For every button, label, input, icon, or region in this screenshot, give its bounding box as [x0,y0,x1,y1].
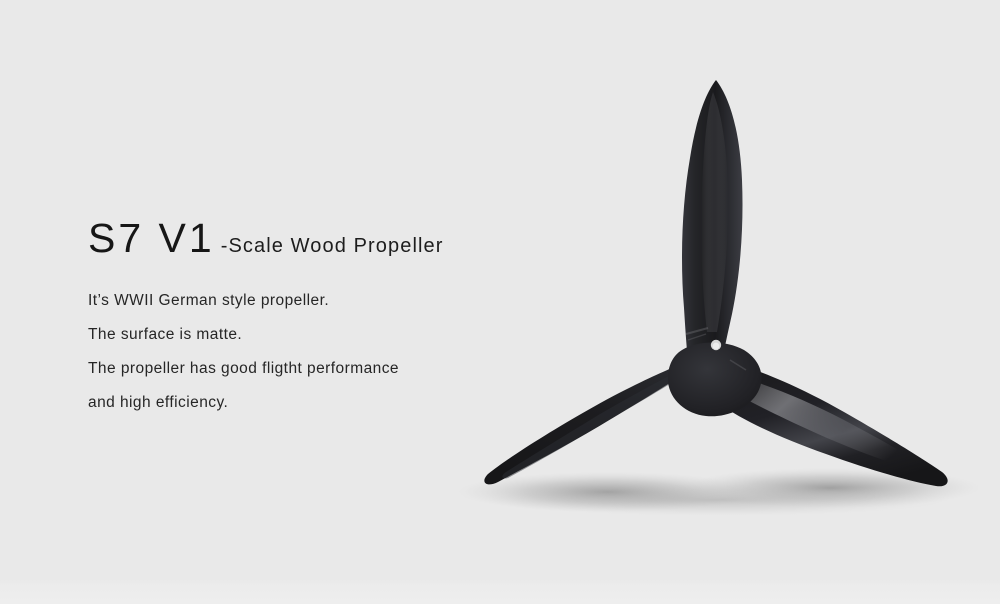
product-tagline: -Scale Wood Propeller [221,235,444,257]
product-copy: S7 V1-Scale Wood Propeller It’s WWII Ger… [88,218,528,420]
feature-item: The surface is matte. [88,318,528,352]
feature-item: The propeller has good fligtht performan… [88,352,528,386]
page-title: S7 V1-Scale Wood Propeller [88,218,528,259]
feature-list: It’s WWII German style propeller. The su… [88,284,528,420]
blade-left-sheen [502,366,692,479]
hub-mounting-hole-inner [713,343,720,350]
feature-item: and high efficiency. [88,386,528,420]
product-model: S7 V1 [88,215,215,261]
product-banner: S7 V1-Scale Wood Propeller It’s WWII Ger… [0,0,1000,604]
blade-shadow-center [488,484,948,516]
feature-item: It’s WWII German style propeller. [88,284,528,318]
